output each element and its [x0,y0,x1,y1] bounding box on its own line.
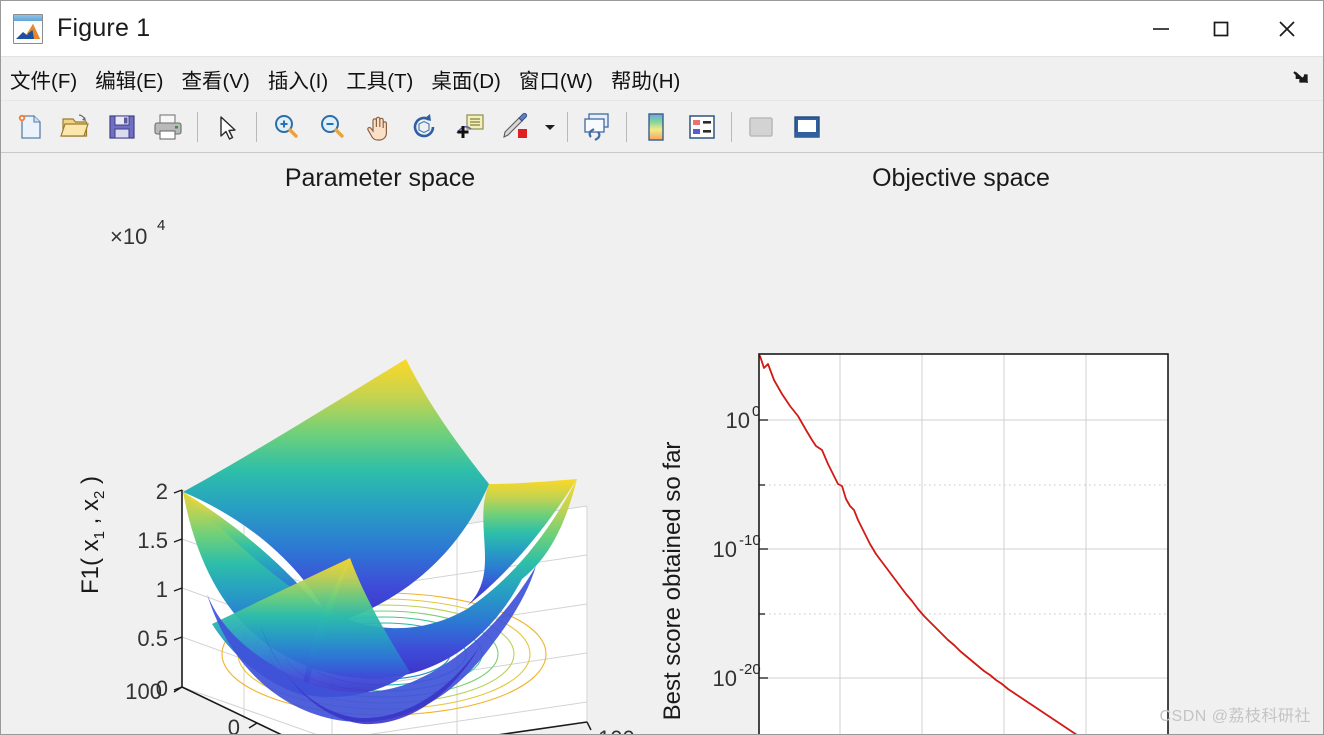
data-cursor-icon[interactable] [447,105,493,149]
tool-bar [1,101,1323,153]
z-tick-1p5: 1.5 [137,528,168,553]
svg-text:10: 10 [713,666,737,691]
window-controls [1131,1,1323,57]
z-tick-0p5: 0.5 [137,626,168,651]
z-tick-2: 2 [156,479,168,504]
minimize-button[interactable] [1131,1,1191,57]
new-figure-icon[interactable] [7,105,53,149]
zoom-in-icon[interactable] [263,105,309,149]
maximize-button[interactable] [1191,1,1251,57]
z-axis-label: F1( x1 , x2 ) [77,476,108,594]
dock-arrow-icon[interactable] [1291,68,1313,90]
svg-text:10: 10 [713,537,737,562]
menu-desktop[interactable]: 桌面(D) [422,62,509,96]
menu-edit[interactable]: 编辑(E) [86,62,172,96]
brush-icon[interactable] [493,105,539,149]
objective-y-axis-label: Best score obtained so far [659,442,686,721]
menu-insert-label: 插入(I) [268,70,328,93]
z-tick-1: 1 [156,577,168,602]
toolbar-separator [256,112,257,142]
link-data-icon[interactable] [574,105,620,149]
close-button[interactable] [1251,1,1323,57]
menu-insert[interactable]: 插入(I) [259,62,337,96]
toolbar-separator [567,112,568,142]
z-axis-tick-labels: 2 1.5 1 0.5 0 [137,479,168,701]
save-figure-icon[interactable] [99,105,145,149]
pan-icon[interactable] [355,105,401,149]
legend-icon[interactable] [679,105,725,149]
svg-text:F1( x1 , x2 ): F1( x1 , x2 ) [77,476,108,594]
z-exponent-power: 4 [157,217,165,234]
svg-text:0: 0 [752,403,760,420]
x1-tick-100: 100 [598,726,635,734]
matlab-figure-window: Figure 1 文件(F) 编辑(E) 查看(V) 插入(I) 工具(T) 桌… [0,0,1324,735]
x2-tick-100: 100 [125,679,162,704]
figure-palette-icon[interactable] [738,105,784,149]
menu-help[interactable]: 帮助(H) [602,62,689,96]
objective-space-title: Objective space [872,164,1050,192]
y-tick-1e-10: 10 -10 [713,532,761,562]
title-bar: Figure 1 [1,1,1323,57]
colorbar-icon[interactable] [633,105,679,149]
svg-text:-20: -20 [739,661,761,678]
zoom-out-icon[interactable] [309,105,355,149]
menu-window-label: 窗口(W) [519,70,593,93]
parameter-space-title: Parameter space [285,164,475,192]
menu-help-label: 帮助(H) [611,70,680,93]
toolbar-separator [626,112,627,142]
pointer-icon[interactable] [204,105,250,149]
z-axis-ticks [174,490,182,690]
open-file-icon[interactable] [53,105,99,149]
menu-bar: 文件(F) 编辑(E) 查看(V) 插入(I) 工具(T) 桌面(D) 窗口(W… [1,57,1323,101]
menu-file-label: 文件(F) [10,70,77,93]
matlab-figure-icon [13,14,43,44]
rotate-3d-icon[interactable] [401,105,447,149]
toolbar-separator [731,112,732,142]
print-figure-icon[interactable] [145,105,191,149]
menu-tools[interactable]: 工具(T) [337,62,422,96]
menu-edit-label: 编辑(E) [95,70,163,93]
objective-plot-background [759,354,1168,734]
svg-text:Best score obtained so far: Best score obtained so far [659,442,686,721]
menu-view-label: 查看(V) [182,70,250,93]
menu-file[interactable]: 文件(F) [1,62,86,96]
y-tick-1e-20: 10 -20 [713,661,761,691]
toolbar-separator [197,112,198,142]
menu-tools-label: 工具(T) [346,70,413,93]
brush-dropdown-icon[interactable] [539,105,561,149]
csdn-watermark: CSDN @荔枝科研社 [1159,702,1311,726]
z-exponent-base: ×10 [110,224,147,249]
objective-y-tick-labels: 10 0 10 -10 10 -20 [713,403,761,691]
figure-canvas: Parameter space ×10 4 2 1.5 1 0.5 0 [2,154,1323,734]
plot-browser-icon[interactable] [784,105,830,149]
menu-window[interactable]: 窗口(W) [510,62,602,96]
figure-plots: Parameter space ×10 4 2 1.5 1 0.5 0 [2,154,1323,734]
menu-view[interactable]: 查看(V) [173,62,259,96]
y-tick-1e0: 10 0 [726,403,761,433]
menu-desktop-label: 桌面(D) [431,70,500,93]
z-axis-exponent: ×10 4 [110,217,165,249]
objective-space-plot[interactable]: 10 0 10 -10 10 -20 [659,164,1183,734]
matlab-logo-wave [14,21,42,43]
svg-text:-10: -10 [739,532,761,549]
window-title: Figure 1 [57,14,150,43]
x2-tick-0: 0 [228,715,240,734]
svg-text:10: 10 [726,408,750,433]
parameter-space-plot[interactable]: Parameter space ×10 4 2 1.5 1 0.5 0 [77,164,635,734]
